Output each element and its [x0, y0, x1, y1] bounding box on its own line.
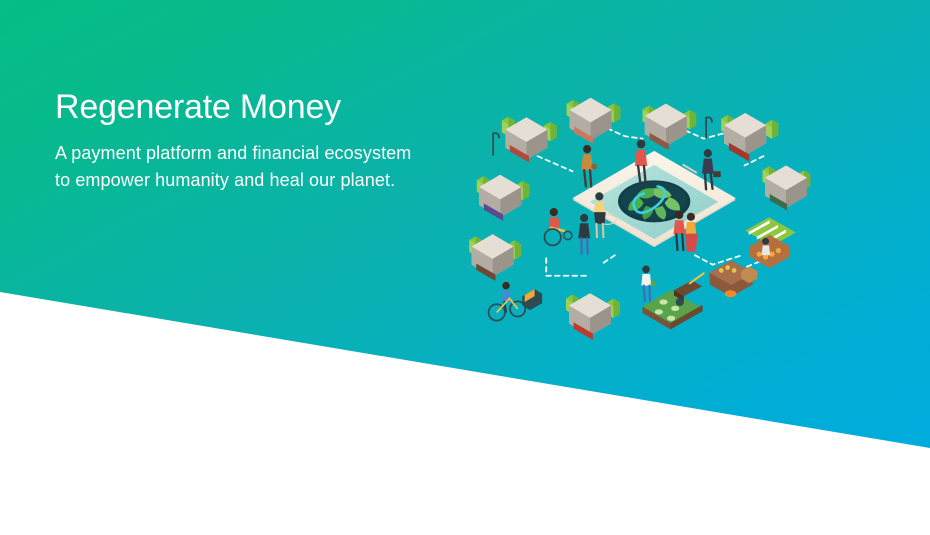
shop-building-brown	[469, 234, 521, 281]
shop-building-grey	[502, 117, 557, 163]
shop-building-wide-tan	[721, 113, 778, 161]
shop-building-red	[566, 293, 620, 340]
page-title: Regenerate Money	[55, 86, 475, 128]
businessman-briefcase	[702, 149, 721, 189]
shop-building-brick	[643, 104, 697, 151]
isometric-payment-ecosystem-illustration	[450, 48, 870, 378]
shop-building-cream	[567, 98, 621, 144]
hero-subtitle: A payment platform and financial ecosyst…	[55, 140, 475, 194]
ecosystem-svg	[450, 48, 870, 378]
market-stall-striped	[745, 217, 796, 268]
garden-plot	[643, 290, 703, 329]
person-with-handbag	[581, 145, 597, 186]
person-in-wheelchair	[545, 208, 572, 245]
person-using-phone	[578, 214, 590, 254]
cyclist-with-trailer	[489, 282, 543, 321]
shop-building-purple	[477, 175, 529, 221]
hero-copy-block: Regenerate Money A payment platform and …	[55, 86, 475, 194]
hero-subtitle-line-2: to empower humanity and heal our planet.	[55, 167, 475, 194]
farmer-planting	[641, 266, 656, 301]
market-vendor	[762, 238, 771, 256]
shop-building-cafe	[763, 165, 811, 210]
hero-banner: Regenerate Money A payment platform and …	[0, 0, 930, 535]
hero-subtitle-line-1: A payment platform and financial ecosyst…	[55, 140, 475, 167]
